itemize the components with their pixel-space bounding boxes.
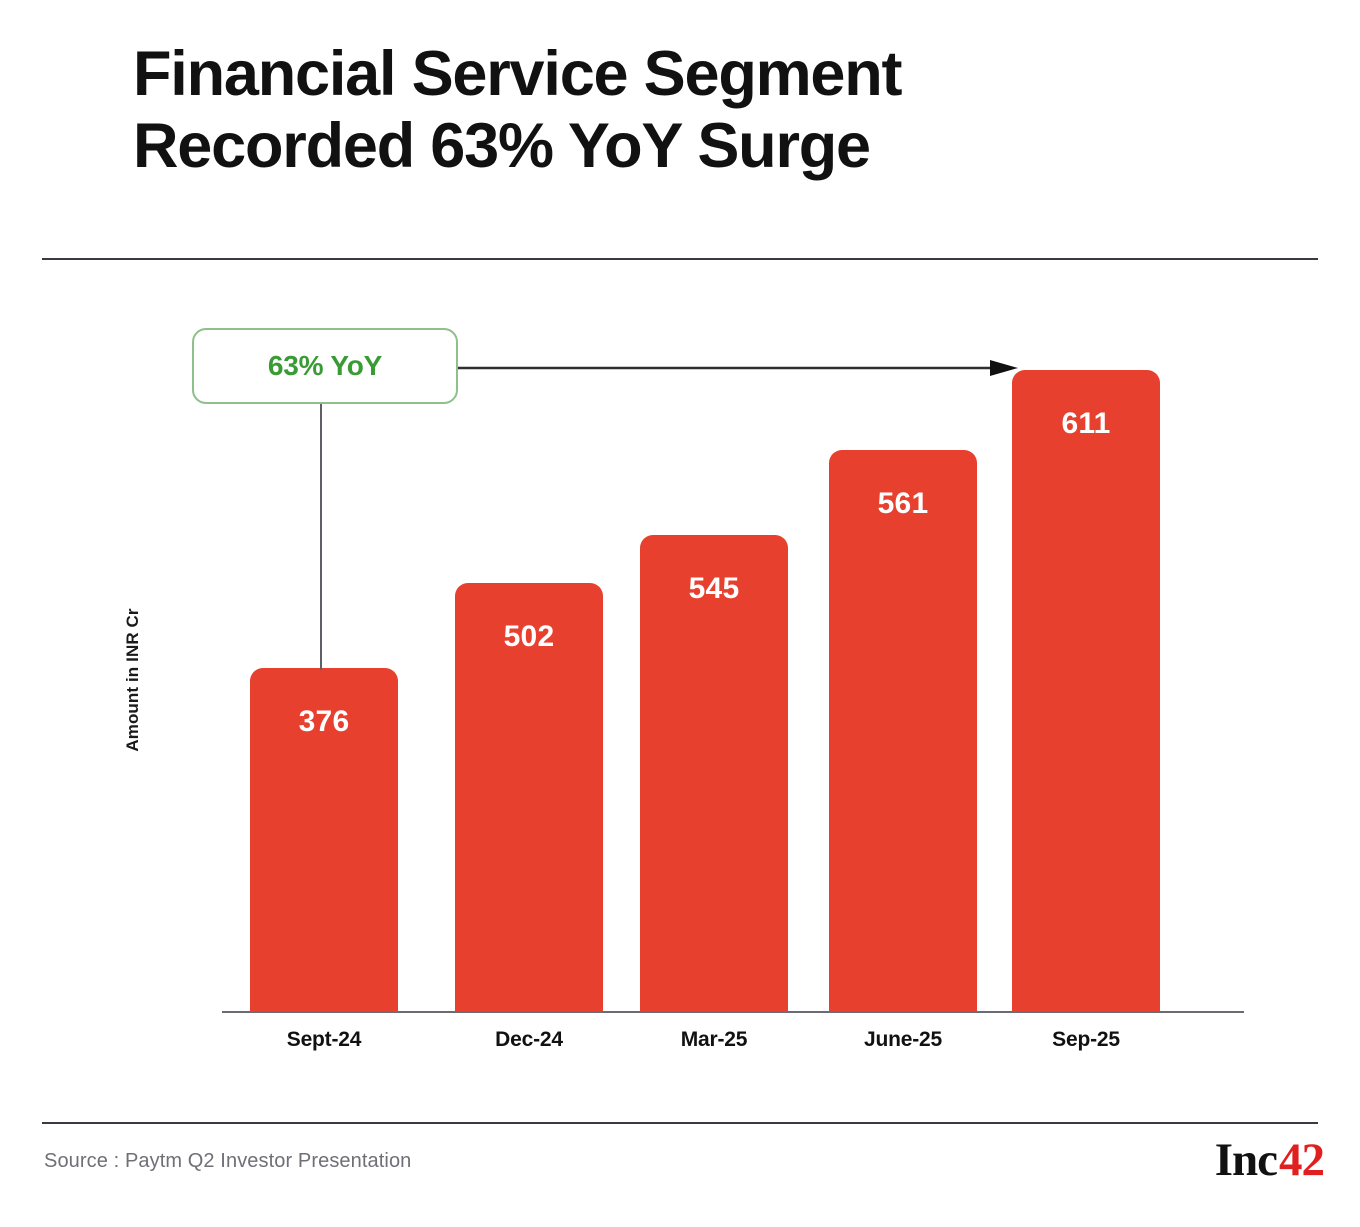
bar-mar-25: 545	[640, 535, 788, 1012]
footer-divider	[42, 1122, 1318, 1124]
bar-chart: Amount in INR Cr 376 502 545 561 611 Sep…	[0, 0, 1360, 1227]
source-text: Source : Paytm Q2 Investor Presentation	[44, 1150, 411, 1173]
x-tick-mar-25: Mar-25	[640, 1028, 788, 1052]
x-tick-dec-24: Dec-24	[455, 1028, 603, 1052]
bar-sep-25: 611	[1012, 370, 1160, 1012]
x-tick-sept-24: Sept-24	[250, 1028, 398, 1052]
bar-value-label: 502	[455, 620, 603, 654]
logo-text-42: 42	[1279, 1137, 1324, 1184]
bar-june-25: 561	[829, 450, 977, 1012]
bar-value-label: 545	[640, 572, 788, 606]
x-tick-sep-25: Sep-25	[1012, 1028, 1160, 1052]
bar-value-label: 376	[250, 705, 398, 739]
inc42-logo: Inc42	[1215, 1137, 1324, 1184]
x-tick-june-25: June-25	[829, 1028, 977, 1052]
callout-connector-line	[320, 403, 322, 670]
yoy-callout-box: 63% YoY	[192, 328, 458, 404]
bar-sept-24: 376	[250, 668, 398, 1012]
yoy-callout-label: 63% YoY	[194, 330, 456, 402]
bar-value-label: 561	[829, 487, 977, 521]
yoy-callout-arrow-icon	[458, 360, 1018, 376]
bar-value-label: 611	[1012, 407, 1160, 441]
bar-dec-24: 502	[455, 583, 603, 1012]
logo-text-inc: Inc	[1215, 1137, 1277, 1184]
y-axis-label: Amount in INR Cr	[123, 540, 143, 820]
